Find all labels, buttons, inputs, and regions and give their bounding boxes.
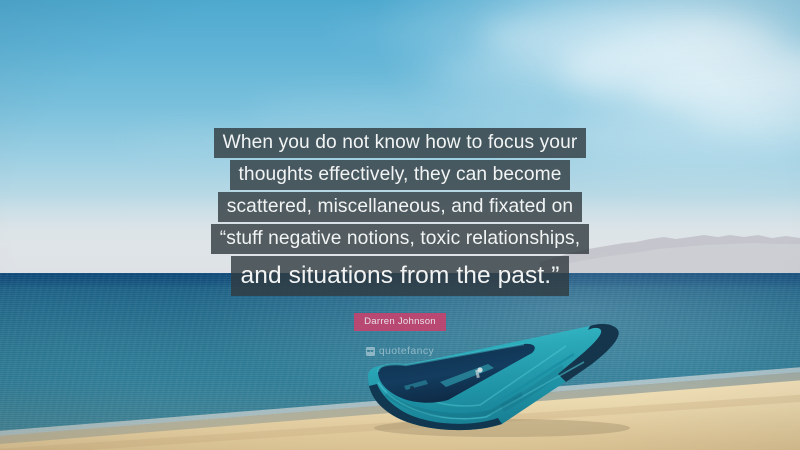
quote-line-row: scattered, miscellaneous, and fixated on: [0, 192, 800, 222]
quotefancy-mark-icon: [366, 347, 375, 356]
quote-line-row: “stuff negative notions, toxic relations…: [0, 224, 800, 254]
quote-line-3: scattered, miscellaneous, and fixated on: [218, 192, 582, 222]
quotefancy-watermark: quotefancy: [366, 346, 434, 357]
watermark-brand-label: quotefancy: [379, 346, 434, 357]
quote-line-4: “stuff negative notions, toxic relations…: [211, 224, 589, 254]
quote-line-1: When you do not know how to focus your: [214, 128, 587, 158]
cloud-wisp: [250, 96, 550, 122]
rowboat: [352, 320, 652, 438]
cloud-wisp: [330, 20, 530, 42]
quote-line-2: thoughts effectively, they can become: [230, 160, 571, 190]
quote-text-block: When you do not know how to focus your t…: [0, 128, 800, 296]
quote-line-row: When you do not know how to focus your: [0, 128, 800, 158]
quote-poster: When you do not know how to focus your t…: [0, 0, 800, 450]
quote-line-row: and situations from the past.”: [0, 256, 800, 296]
author-badge-wrapper: Darren Johnson: [0, 311, 800, 331]
quote-line-row: thoughts effectively, they can become: [0, 160, 800, 190]
cloud-wisp: [430, 52, 660, 86]
watermark-wrapper: quotefancy: [0, 343, 800, 361]
quote-line-5: and situations from the past.”: [231, 256, 570, 296]
author-name-badge: Darren Johnson: [354, 313, 446, 331]
